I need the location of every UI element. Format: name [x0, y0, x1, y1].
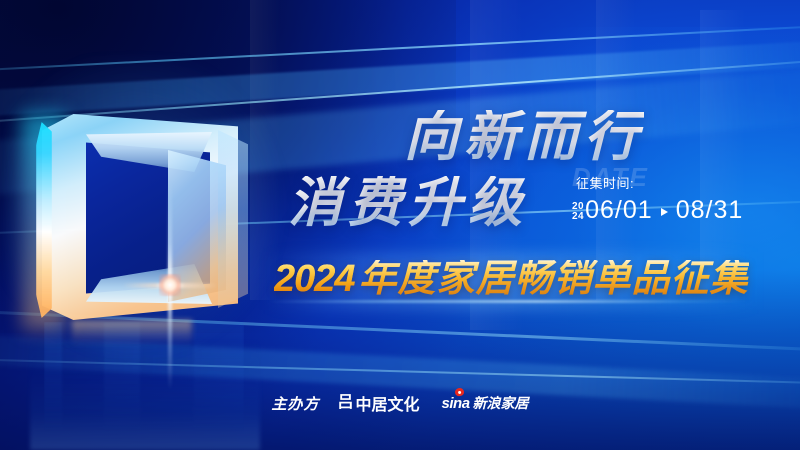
date-label: 征集时间: — [576, 177, 634, 190]
sina-wordmark: sina — [442, 395, 470, 412]
footer-sponsors: 主办方 吕 中居文化 sina 新浪家居 — [0, 391, 800, 415]
star-flare-icon — [159, 274, 181, 296]
portal-right-face — [218, 130, 248, 308]
date-year-top: 20 — [572, 202, 584, 212]
date-year-stack: 20 24 — [572, 202, 584, 222]
triangle-right-icon — [661, 208, 668, 216]
page-subtitle-heading: 消费升级 — [288, 176, 528, 230]
page-title: 向新而行 — [404, 110, 644, 164]
sina-name: 新浪家居 — [473, 393, 529, 413]
campaign-subtitle-text: 年度家居畅销单品征集 — [359, 258, 749, 300]
date-year-bottom: 24 — [572, 212, 584, 222]
organizer-label: 主办方 — [271, 393, 319, 414]
campaign-subtitle: 2024年度家居畅销单品征集 — [274, 260, 749, 298]
sponsor-zhongju-logo: 吕 中居文化 — [337, 391, 419, 415]
date-start: 06/01 — [585, 198, 653, 223]
portal-left-edge — [36, 122, 52, 318]
subtitle-underline — [268, 300, 748, 303]
campaign-year: 2024 — [274, 258, 355, 300]
date-end: 08/31 — [676, 198, 744, 223]
zhongju-name: 中居文化 — [356, 391, 420, 415]
sponsor-sina-logo: sina 新浪家居 — [442, 393, 529, 413]
glowing-door-portal-icon — [42, 96, 252, 326]
date-range: 20 24 06/01 08/31 — [572, 198, 743, 223]
zhongju-mark-icon: 吕 — [337, 395, 352, 411]
sina-eye-icon — [454, 387, 464, 397]
promo-banner: 向新而行 消费升级 DATE 征集时间: 20 24 06/01 08/31 2… — [0, 0, 800, 450]
